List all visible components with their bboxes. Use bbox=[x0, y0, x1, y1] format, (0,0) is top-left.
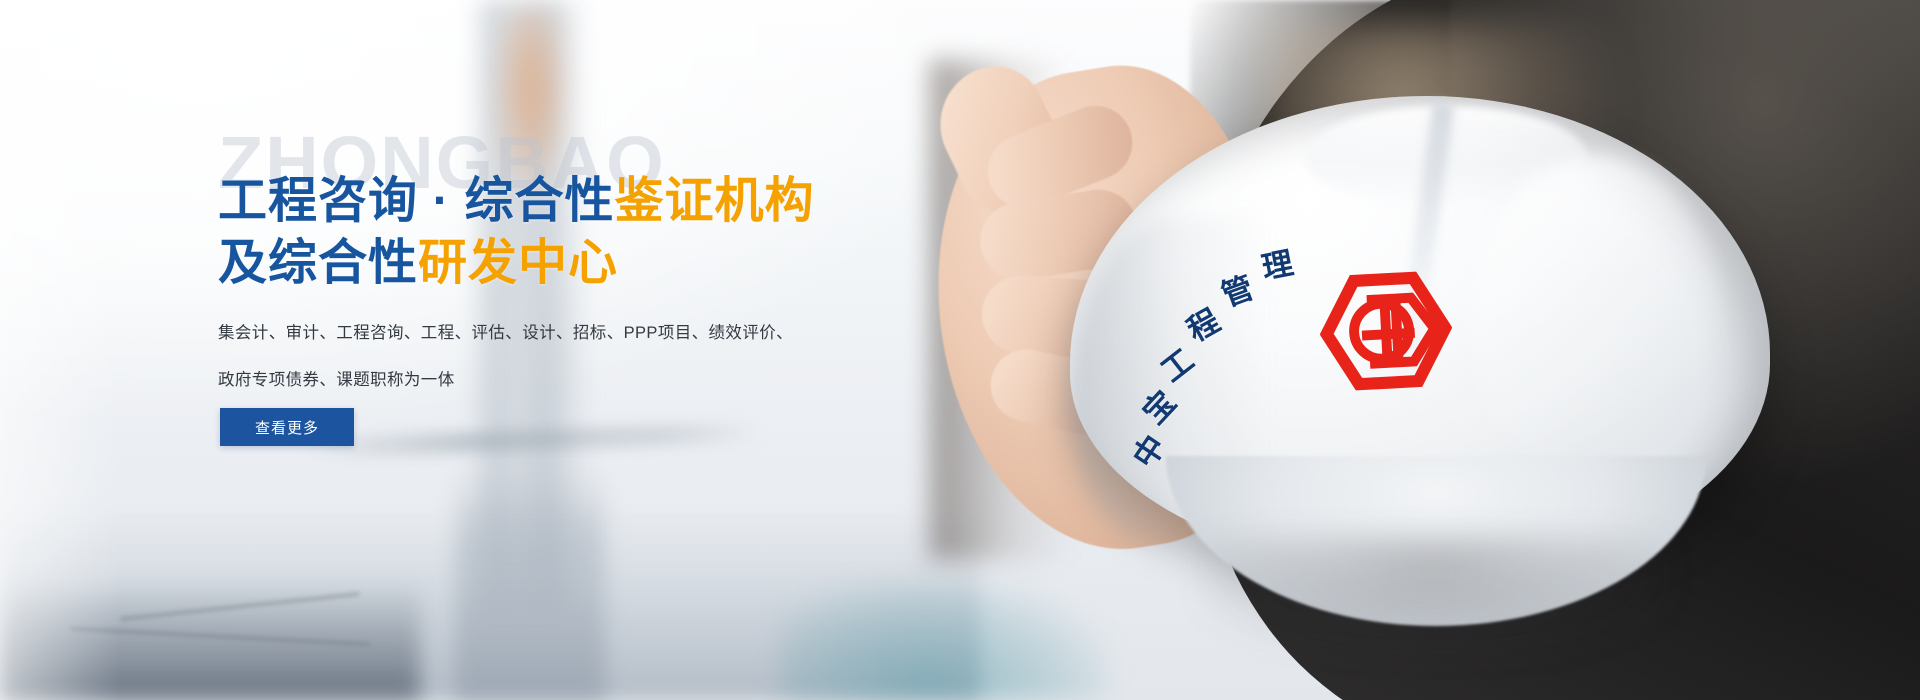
headline-line-2: 及综合性研发中心 bbox=[218, 232, 815, 294]
helmet-brand-char: 管 bbox=[1218, 272, 1258, 312]
helmet-bottom-shadow bbox=[1200, 536, 1670, 656]
headline-line-1-accent: 鉴证机构 bbox=[615, 174, 815, 228]
subtitle-line-1: 集会计、审计、工程咨询、工程、评估、设计、招标、PPP项目、绩效评价、 bbox=[218, 310, 793, 357]
helmet-brand-char: 理 bbox=[1259, 247, 1295, 283]
helmet-gloss-highlight bbox=[1470, 156, 1720, 486]
hero-banner: 中 宝 工 程 管 理 ZHONGBAO bbox=[0, 0, 1920, 700]
helmet-brand-char: 程 bbox=[1182, 304, 1224, 346]
helmet-brand-char: 工 bbox=[1156, 344, 1200, 388]
headline-line-2-accent: 研发中心 bbox=[418, 236, 618, 290]
view-more-button[interactable]: 查看更多 bbox=[220, 408, 354, 446]
hero-headline: 工程咨询 · 综合性鉴证机构 及综合性研发中心 bbox=[218, 170, 815, 294]
subtitle-line-2: 政府专项债券、课题职称为一体 bbox=[218, 357, 793, 404]
headline-line-1: 工程咨询 · 综合性鉴证机构 bbox=[218, 170, 815, 232]
hero-subtitle: 集会计、审计、工程咨询、工程、评估、设计、招标、PPP项目、绩效评价、 政府专项… bbox=[218, 310, 793, 404]
zhongbao-hexagon-logo bbox=[1317, 269, 1455, 394]
helmet-brand-char: 宝 bbox=[1138, 386, 1182, 430]
hero-content: ZHONGBAO 工程咨询 · 综合性鉴证机构 及综合性研发中心 集会计、审计、… bbox=[218, 0, 1038, 700]
safety-helmet: 中 宝 工 程 管 理 bbox=[1070, 96, 1770, 626]
helmet-brand-char: 中 bbox=[1128, 430, 1171, 473]
headline-line-2-main: 及综合性 bbox=[218, 236, 418, 290]
headline-line-1-main: 工程咨询 · 综合性 bbox=[218, 174, 615, 228]
